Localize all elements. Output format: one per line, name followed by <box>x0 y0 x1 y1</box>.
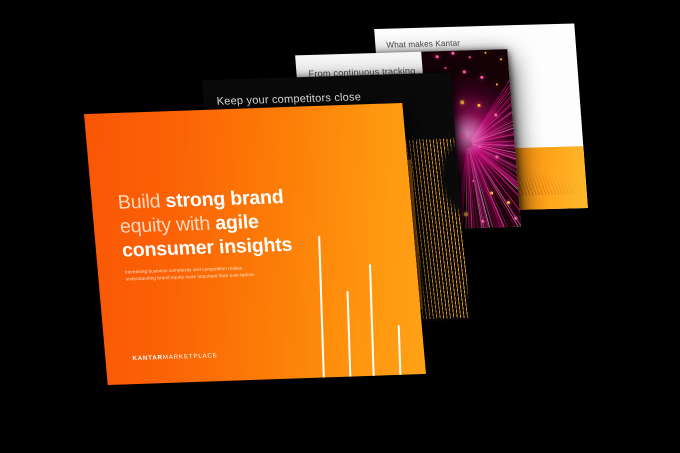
burst-node <box>481 220 484 223</box>
cover-title: Build strong brand equity with agile con… <box>117 182 390 264</box>
burst-node <box>479 146 481 148</box>
cover-title-line2-bold: agile <box>214 211 259 234</box>
chart-bar <box>369 264 376 385</box>
burst-node <box>498 227 501 230</box>
burst-node <box>464 212 468 216</box>
cover-title-line1-bold: strong brand <box>165 186 285 212</box>
slide-cover[interactable]: Build strong brand equity with agile con… <box>84 103 426 385</box>
cover-title-line2-light: equity with <box>119 213 216 238</box>
burst-node <box>451 52 454 55</box>
burst-node <box>436 55 439 58</box>
logo-kantar: KANTAR <box>132 354 163 362</box>
burst-node <box>480 76 483 79</box>
burst-node <box>494 113 497 116</box>
burst-node <box>496 83 498 85</box>
burst-node <box>460 100 464 104</box>
burst-node <box>495 155 498 158</box>
cover-title-line1-light: Build <box>117 190 167 214</box>
burst-node <box>490 191 493 194</box>
cover-title-line3-bold: consumer insights <box>121 234 293 262</box>
chart-bar <box>398 325 402 385</box>
slide-stack-scene: What makes Kantar Marketplace different?… <box>0 0 680 453</box>
burst-node <box>507 201 510 204</box>
chart-bar <box>318 236 325 385</box>
burst-node <box>461 134 465 138</box>
slide-difference-headline-line1: What makes Kantar <box>386 39 460 50</box>
chart-bar <box>347 291 353 385</box>
burst-node <box>477 104 480 107</box>
